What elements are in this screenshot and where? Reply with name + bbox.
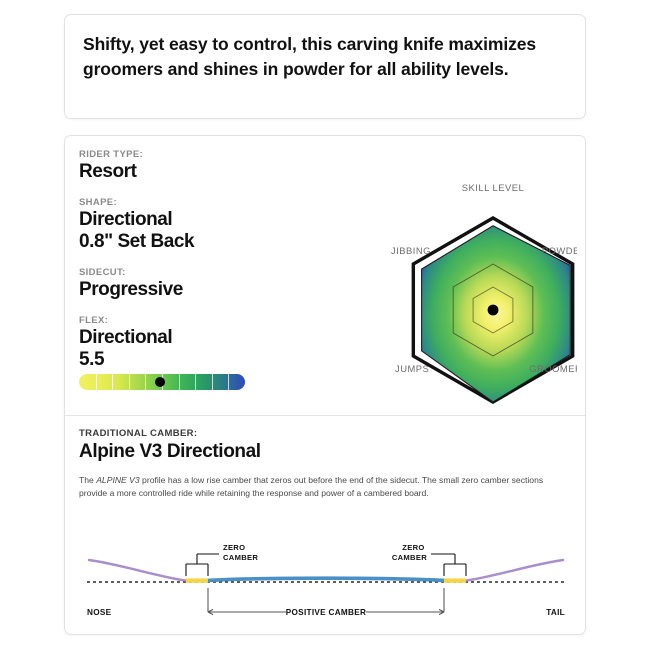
camber-label: TRADITIONAL CAMBER: — [79, 428, 571, 439]
camber-tail-curve — [466, 560, 563, 581]
summary-card: Shifty, yet easy to control, this carvin… — [64, 14, 586, 119]
tail-label: TAIL — [546, 608, 565, 617]
spec-label-rider-type: RIDER TYPE: — [79, 149, 289, 160]
spec-label-shape: SHAPE: — [79, 197, 289, 208]
camber-title: Alpine V3 Directional — [79, 441, 571, 463]
camber-description: The ALPINE V3 profile has a low rise cam… — [79, 474, 557, 501]
camber-zero-section-nose — [186, 578, 208, 582]
radar-label-jibbing: JIBBING — [391, 245, 431, 256]
zero-camber-label-tail: ZERO CAMBER — [392, 543, 427, 562]
product-spec-page: Shifty, yet easy to control, this carvin… — [0, 0, 650, 650]
camber-nose-curve — [89, 560, 186, 581]
section-divider — [65, 415, 585, 416]
camber-description-pre: The — [79, 475, 96, 485]
radar-label-powder: POWDER — [542, 245, 577, 256]
summary-text: Shifty, yet easy to control, this carvin… — [83, 32, 567, 81]
zero-camber-label-nose: ZERO CAMBER — [223, 543, 258, 562]
camber-diagram: ZERO CAMBER ZERO CAMBER — [79, 534, 573, 629]
camber-positive-section — [208, 578, 444, 580]
camber-section: TRADITIONAL CAMBER: Alpine V3 Directiona… — [79, 428, 571, 501]
zero-camber-bracket-nose — [186, 554, 219, 576]
camber-zero-section-tail — [444, 578, 466, 582]
spec-label-sidecut: SIDECUT: — [79, 267, 289, 278]
specs-list: RIDER TYPE: Resort SHAPE: Directional 0.… — [79, 149, 289, 371]
flex-meter — [79, 374, 245, 390]
camber-description-post: profile has a low rise camber that zeros… — [79, 475, 543, 498]
radar-label-groomers: GROOMERS — [529, 363, 577, 374]
spec-value-shape: Directional 0.8" Set Back — [79, 209, 289, 253]
camber-description-emphasis: ALPINE V3 — [96, 475, 139, 485]
radar-center-dot — [488, 305, 499, 316]
radar-label-skill-level: SKILL LEVEL — [462, 182, 524, 193]
spec-value-sidecut: Progressive — [79, 279, 289, 301]
radar-label-jumps: JUMPS — [395, 363, 429, 374]
spec-label-flex: FLEX: — [79, 315, 289, 326]
nose-label: NOSE — [87, 608, 112, 617]
zero-camber-bracket-tail — [431, 554, 466, 576]
positive-camber-label: POSITIVE CAMBER — [286, 608, 366, 617]
detail-card: RIDER TYPE: Resort SHAPE: Directional 0.… — [64, 135, 586, 635]
radar-chart: SKILL LEVEL POWDER GROOMERS TERRAIN VERS… — [287, 144, 577, 409]
spec-value-flex: Directional 5.5 — [79, 327, 289, 371]
spec-value-rider-type: Resort — [79, 161, 289, 183]
